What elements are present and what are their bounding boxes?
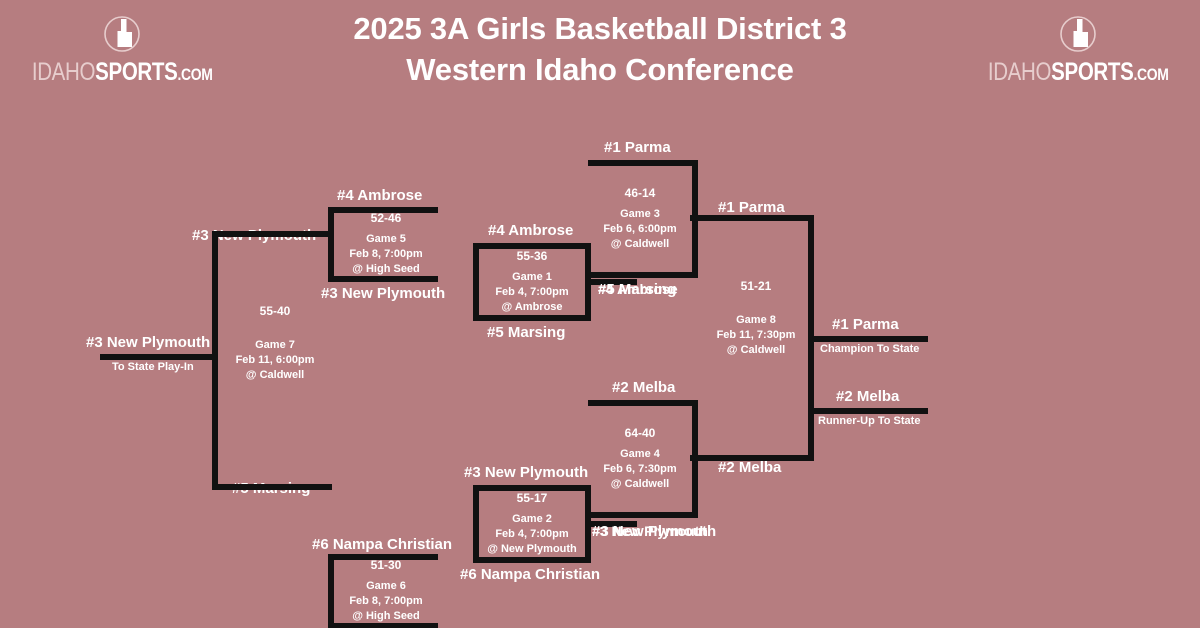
game-6-score: 51-30 [371, 559, 402, 572]
game-8-number: Game 8 [656, 313, 856, 328]
game-7-score: 55-40 [175, 305, 375, 318]
game-3-top-team: #1 Parma [604, 140, 671, 155]
idaho-state-outline-icon [1055, 14, 1101, 58]
title-line-2: Western Idaho Conference [240, 49, 960, 90]
page-title: 2025 3A Girls Basketball District 3 West… [240, 8, 960, 90]
game-7-lower-arm [212, 484, 332, 490]
game-2-venue: @ New Plymouth [487, 542, 577, 557]
game-4-top-team: #2 Melba [612, 380, 675, 395]
game-1-score: 55-36 [517, 250, 548, 263]
logo-sports-text: SPORTS [1051, 60, 1133, 85]
champion-connector [808, 336, 928, 342]
game-3-score: 46-14 [625, 187, 656, 200]
game-4-box[interactable]: 64-40 Game 4 Feb 6, 7:30pm @ Caldwell [588, 400, 698, 518]
game-1-top-team: #4 Ambrose [488, 223, 573, 238]
game-5-top-team: #4 Ambrose [337, 188, 422, 203]
logo-wordmark: IDAHOSPORTS.COM [32, 60, 213, 85]
game-4-venue: @ Caldwell [611, 477, 669, 492]
logo-wordmark: IDAHOSPORTS.COM [988, 60, 1169, 85]
game-8-upper-arm [690, 215, 814, 221]
runner-up-team: #2 Melba [836, 389, 899, 404]
logo-com-text: .COM [1133, 66, 1168, 83]
game-5-venue: @ High Seed [352, 262, 420, 277]
game-1-datetime: Feb 4, 7:00pm [495, 285, 568, 300]
page-header: IDAHOSPORTS.COM 2025 3A Girls Basketball… [0, 0, 1200, 110]
game-6-top-team: #6 Nampa Christian [312, 537, 452, 552]
game-4-score: 64-40 [625, 427, 656, 440]
logo-sports-text: SPORTS [95, 60, 177, 85]
game-2-number: Game 2 [512, 512, 552, 527]
game-8-lower-arm [690, 455, 814, 461]
game-3-datetime: Feb 6, 6:00pm [603, 222, 676, 237]
champion-label: Champion To State [820, 344, 919, 355]
game-5-bottom-team: #3 New Plymouth [321, 286, 445, 301]
game-3-winner-label: #1 Parma [718, 200, 785, 215]
game-1-number: Game 1 [512, 270, 552, 285]
game-3-number: Game 3 [620, 207, 660, 222]
game-4-datetime: Feb 6, 7:30pm [603, 462, 676, 477]
game-1-box[interactable]: 55-36 Game 1 Feb 4, 7:00pm @ Ambrose [473, 243, 591, 321]
game-6-box[interactable]: 51-30 Game 6 Feb 8, 7:00pm @ High Seed [328, 554, 438, 628]
game-3-venue: @ Caldwell [611, 237, 669, 252]
game-2-box[interactable]: 55-17 Game 2 Feb 4, 7:00pm @ New Plymout… [473, 485, 591, 563]
game-7-datetime: Feb 11, 6:00pm [175, 353, 375, 368]
game-1-venue: @ Ambrose [501, 300, 562, 315]
site-logo-right[interactable]: IDAHOSPORTS.COM [978, 14, 1178, 96]
idaho-state-outline-icon [99, 14, 145, 58]
game-5-number: Game 5 [366, 232, 406, 247]
play-in-label: To State Play-In [112, 362, 194, 373]
game-4-bottom-team: #3 New Plymouth [592, 524, 716, 539]
tournament-bracket: #4 Ambrose 55-36 Game 1 Feb 4, 7:00pm @ … [0, 110, 1200, 628]
game-4-number: Game 4 [620, 447, 660, 462]
game-7-venue: @ Caldwell [175, 368, 375, 383]
site-logo-left[interactable]: IDAHOSPORTS.COM [22, 14, 222, 96]
game-6-number: Game 6 [366, 579, 406, 594]
game-3-box[interactable]: 46-14 Game 3 Feb 6, 6:00pm @ Caldwell [588, 160, 698, 278]
logo-com-text: .COM [177, 66, 212, 83]
game-2-bottom-team: #6 Nampa Christian [460, 567, 600, 582]
game-2-datetime: Feb 4, 7:00pm [495, 527, 568, 542]
game-5-score: 52-46 [371, 212, 402, 225]
game-8-score: 51-21 [656, 280, 856, 293]
game-7-upper-arm [212, 231, 332, 237]
play-in-team: #3 New Plymouth [86, 335, 210, 350]
game-5-datetime: Feb 8, 7:00pm [349, 247, 422, 262]
runner-up-label: Runner-Up To State [818, 416, 920, 427]
game-1-bottom-team: #5 Marsing [487, 325, 565, 340]
logo-idaho-text: IDAHO [988, 60, 1051, 85]
game-6-datetime: Feb 8, 7:00pm [349, 594, 422, 609]
champion-team: #1 Parma [832, 317, 899, 332]
game-2-top-team: #3 New Plymouth [464, 465, 588, 480]
game-2-score: 55-17 [517, 492, 548, 505]
logo-idaho-text: IDAHO [32, 60, 95, 85]
game-6-venue: @ High Seed [352, 609, 420, 624]
title-line-1: 2025 3A Girls Basketball District 3 [240, 8, 960, 49]
game-5-box[interactable]: 52-46 Game 5 Feb 8, 7:00pm @ High Seed [328, 207, 438, 282]
game-4-winner-label: #2 Melba [718, 460, 781, 475]
runner-up-connector [808, 408, 928, 414]
